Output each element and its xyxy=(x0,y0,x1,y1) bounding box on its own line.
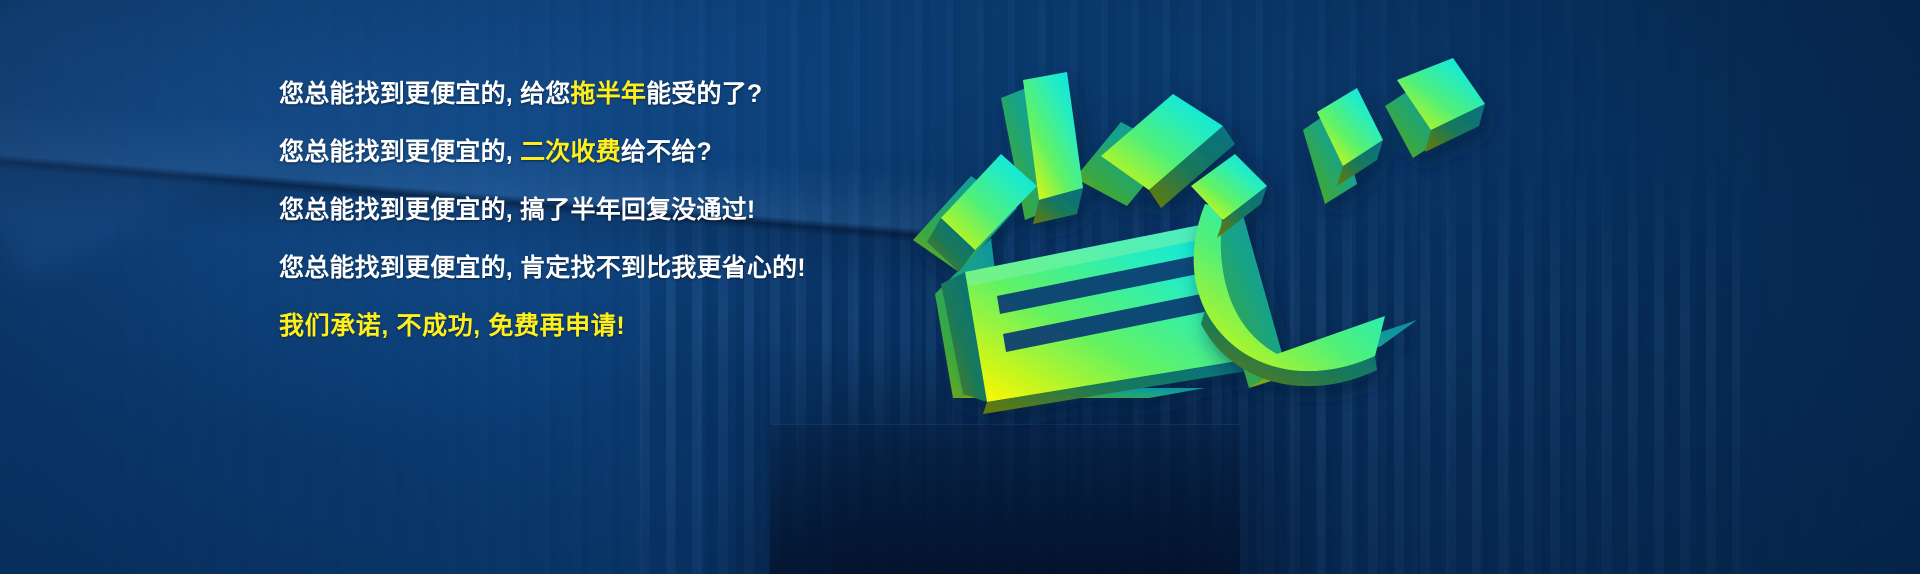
shengxin-wordmark: 省心 xyxy=(905,58,1465,398)
promo-line-4-part-1: 您总能找到更便宜的, 肯定找不到比我更省心的! xyxy=(279,254,806,282)
promo-line-2: 您总能找到更便宜的, 二次收费给不给? xyxy=(279,140,899,165)
promo-line-3: 您总能找到更便宜的, 搞了半年回复没通过! xyxy=(279,198,899,223)
promo-line-4: 您总能找到更便宜的, 肯定找不到比我更省心的! xyxy=(279,256,899,281)
promo-line-5-part-1: 我们承诺, 不成功, 免费再申请! xyxy=(279,312,625,340)
promo-line-1: 您总能找到更便宜的, 给您拖半年能受的了? xyxy=(279,82,899,107)
promo-line-5-guarantee: 我们承诺, 不成功, 免费再申请! xyxy=(279,314,899,339)
promo-line-1-part-1: 您总能找到更便宜的, 给您 xyxy=(279,80,571,108)
marketing-copy-block: 您总能找到更便宜的, 给您拖半年能受的了? 您总能找到更便宜的, 二次收费给不给… xyxy=(279,82,899,339)
promo-line-2-part-3: 给不给? xyxy=(621,138,712,166)
promo-line-1-part-3: 能受的了? xyxy=(646,80,762,108)
promo-line-2-part-1: 您总能找到更便宜的, xyxy=(279,138,520,166)
wordmark-char-xin xyxy=(1191,58,1485,388)
promo-line-3-part-1: 您总能找到更便宜的, 搞了半年回复没通过! xyxy=(279,196,755,224)
promo-banner: 您总能找到更便宜的, 给您拖半年能受的了? 您总能找到更便宜的, 二次收费给不给… xyxy=(0,0,1920,574)
promo-line-2-highlight: 二次收费 xyxy=(520,138,621,166)
promo-line-1-highlight: 拖半年 xyxy=(571,80,647,108)
